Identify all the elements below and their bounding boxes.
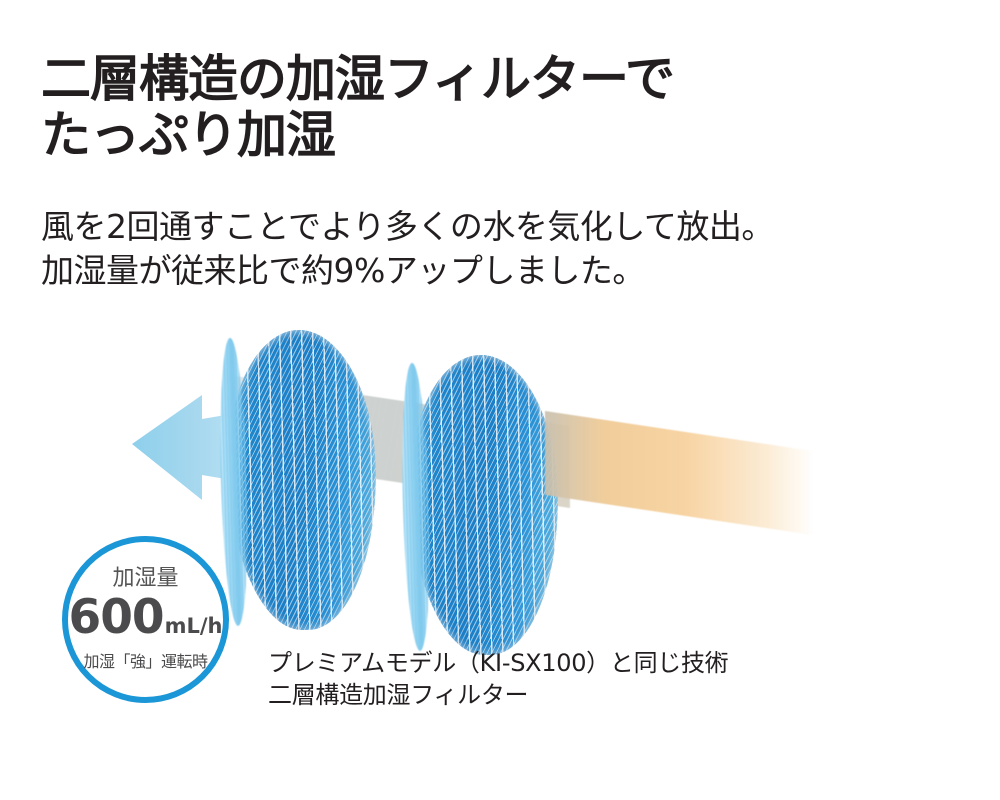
- page-title: 二層構造の加湿フィルターで たっぷり加湿: [41, 51, 871, 163]
- filter-rim: [224, 328, 380, 632]
- badge-unit: mL/h: [165, 616, 223, 637]
- badge-value-row: 600 mL/h: [69, 594, 223, 641]
- illustration-caption: プレミアムモデル（KI-SX100）と同じ技術 二層構造加湿フィルター: [268, 647, 908, 711]
- badge-value: 600: [69, 594, 164, 641]
- badge-title: 加湿量: [112, 568, 178, 590]
- filter-rim: [406, 353, 562, 657]
- humidification-rate-badge: 加湿量 600 mL/h 加湿「強」運転時: [62, 536, 229, 703]
- page-subtitle: 風を2回通すことでより多くの水を気化して放出。 加湿量が従来比で約9%アップしま…: [41, 205, 941, 293]
- infographic-page: 二層構造の加湿フィルターで たっぷり加湿 風を2回通すことでより多くの水を気化し…: [0, 0, 1000, 800]
- badge-note: 加湿「強」運転時: [83, 648, 207, 672]
- front-humidifying-filter: [224, 328, 380, 632]
- humid-air-band: [545, 411, 813, 535]
- rear-humidifying-filter: [406, 353, 562, 657]
